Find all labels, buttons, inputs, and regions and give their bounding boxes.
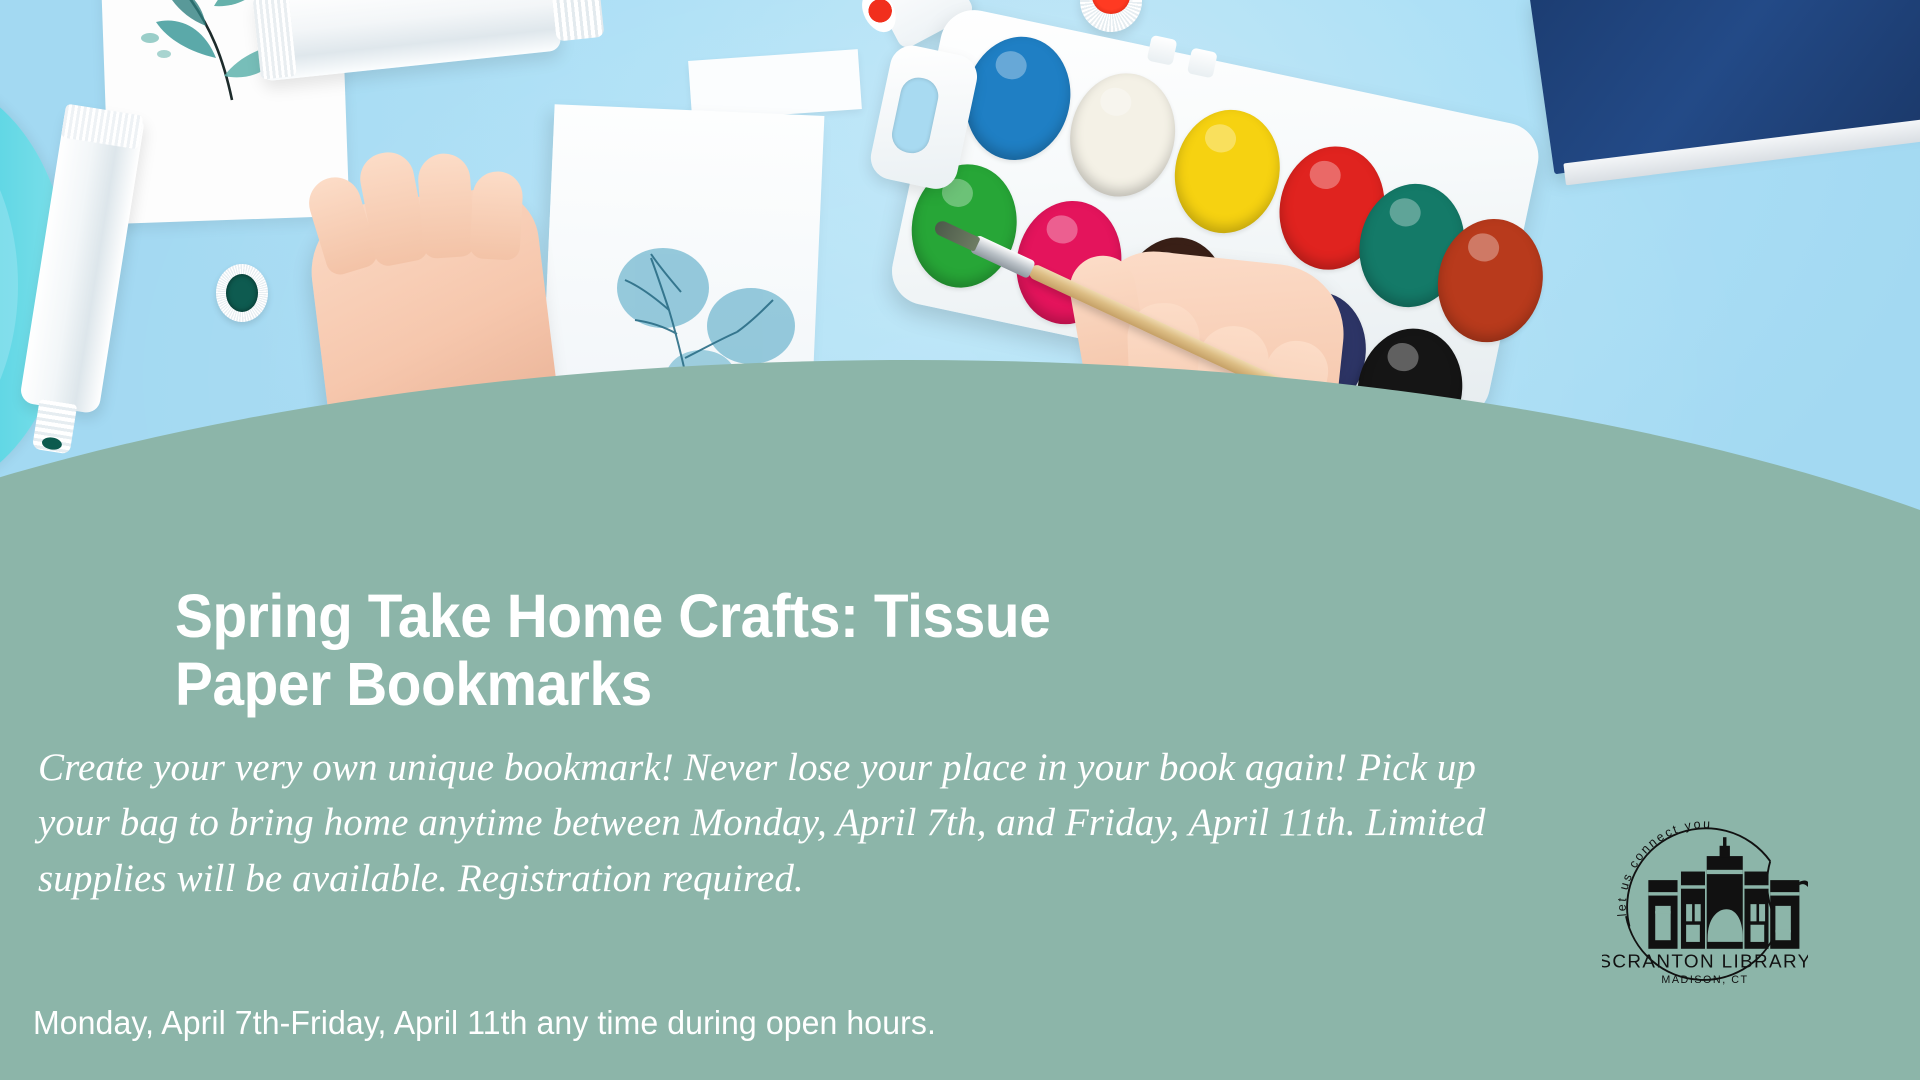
- logo-location: MADISON, CT: [1661, 974, 1748, 986]
- logo-name: SCRANTON LIBRARY: [1602, 952, 1808, 973]
- event-flyer: Spring Take Home Crafts: Tissue Paper Bo…: [0, 0, 1920, 1080]
- event-title: Spring Take Home Crafts: Tissue Paper Bo…: [175, 582, 1217, 719]
- event-hours: Monday, April 7th-Friday, April 11th any…: [33, 1004, 936, 1042]
- scranton-library-logo: let us connect you: [1602, 796, 1808, 1002]
- event-description: Create your very own unique bookmark! Ne…: [38, 740, 1498, 906]
